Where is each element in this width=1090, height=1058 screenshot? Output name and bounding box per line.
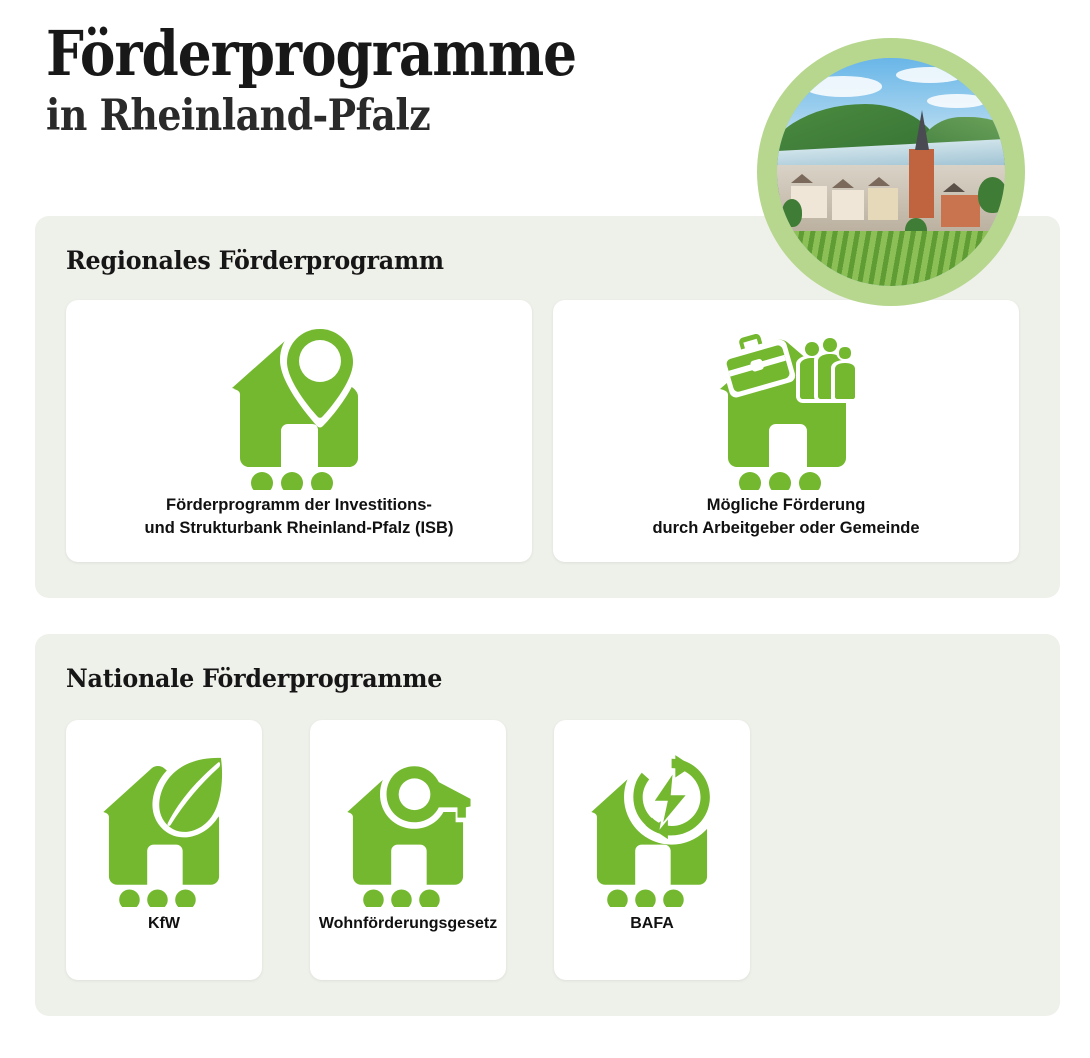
page-header: Förderprogramme in Rheinland-Pfalz (46, 22, 746, 142)
photo-roof (791, 174, 813, 183)
photo-building (941, 195, 980, 227)
page-title: Förderprogramme (46, 22, 648, 86)
section-title-national: Nationale Förderprogramme (66, 664, 442, 693)
card-caption: Mögliche Förderung durch Arbeitgeber ode… (636, 494, 935, 541)
photo-church-spire (915, 110, 929, 150)
card-kfw[interactable]: KfW (66, 720, 262, 980)
photo-tree (978, 177, 1005, 213)
photo-cloud (896, 67, 964, 83)
card-bafa[interactable]: BAFA (554, 720, 750, 980)
house-briefcase-people-icon (710, 314, 862, 494)
region-photo-circle (757, 38, 1025, 306)
card-caption: KfW (132, 913, 196, 936)
house-leaf-icon (94, 738, 234, 913)
photo-roof (832, 179, 854, 188)
card-caption: BAFA (614, 913, 690, 936)
photo-cloud (927, 94, 986, 108)
photo-vineyard (777, 231, 1005, 286)
section-title-regional: Regionales Förderprogramm (66, 246, 444, 275)
house-energy-bolt-icon (582, 738, 722, 913)
card-employer[interactable]: Mögliche Förderung durch Arbeitgeber ode… (553, 300, 1019, 562)
card-wohnfoerderungsgesetz[interactable]: Wohnförderungsgesetz (310, 720, 506, 980)
photo-cloud (804, 76, 882, 97)
photo-roof (943, 183, 965, 192)
card-caption: Wohnförderungsgesetz (303, 913, 513, 936)
rhine-valley-town-photo (777, 58, 1005, 286)
photo-roof (868, 177, 890, 186)
house-key-icon (338, 738, 478, 913)
card-isb[interactable]: Förderprogramm der Investitions- und Str… (66, 300, 532, 562)
house-map-pin-icon (224, 314, 374, 494)
photo-building (832, 190, 864, 220)
photo-tree (782, 199, 803, 226)
photo-building (868, 188, 898, 220)
page-subtitle: in Rheinland-Pfalz (46, 92, 662, 141)
card-caption: Förderprogramm der Investitions- und Str… (129, 494, 470, 541)
section-national: Nationale Förderprogramme KfW (35, 634, 1060, 1016)
photo-church-tower (909, 149, 934, 217)
